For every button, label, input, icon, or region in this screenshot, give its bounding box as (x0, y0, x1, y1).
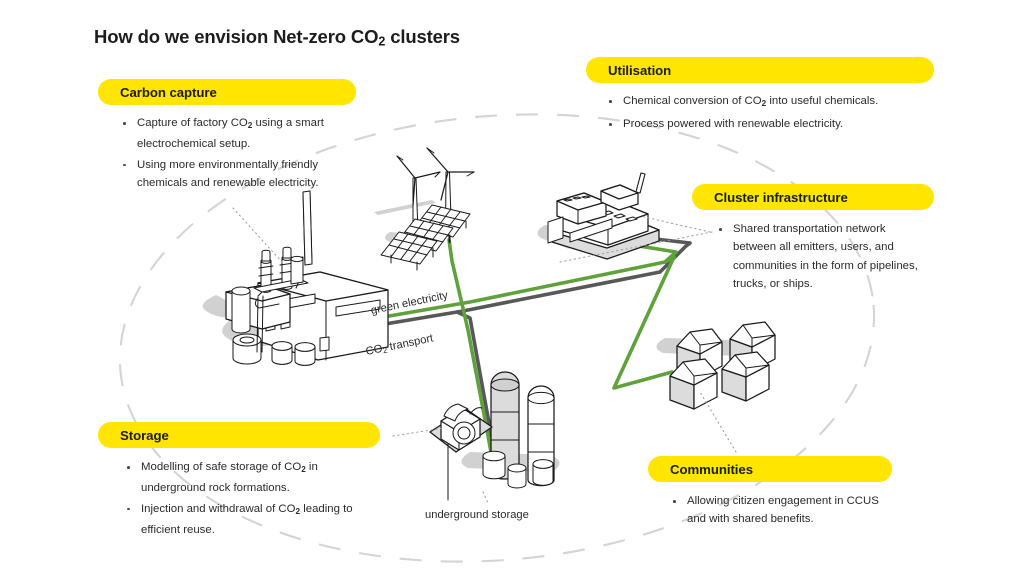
page-title: How do we envision Net-zero CO2 clusters (94, 26, 460, 48)
callout-bullets-storage: Modelling of safe storage of CO2 in unde… (98, 458, 370, 539)
bullet-item: Capture of factory CO2 using a smart ele… (120, 114, 346, 154)
callout-heading-storage: Storage (98, 422, 380, 448)
callout-storage: Storage Modelling of safe storage of CO2… (98, 422, 380, 539)
callout-heading-utilisation: Utilisation (586, 57, 934, 83)
callout-bullets-carbon-capture: Capture of factory CO2 using a smart ele… (98, 114, 346, 192)
callout-heading-carbon-capture: Carbon capture (98, 79, 356, 105)
bullet-item: Process powered with renewable electrici… (606, 115, 930, 133)
label-underground-storage: underground storage (425, 509, 529, 521)
callout-bullets-cluster-infrastructure: Shared transportation network between al… (692, 220, 930, 294)
callout-bullets-communities: Allowing citizen engagement in CCUS and … (648, 492, 892, 529)
bullet-item: Shared transportation network between al… (716, 220, 930, 294)
pipeline-label-co2-transport: CO2 transport (365, 332, 435, 358)
callout-heading-communities: Communities (648, 456, 892, 482)
bullet-item: Injection and withdrawal of CO2 leading … (124, 500, 370, 540)
infographic-canvas: .ln { fill:none; stroke:#1a1a1a; stroke-… (0, 0, 1024, 576)
callout-communities: Communities Allowing citizen engagement … (648, 456, 892, 529)
bullet-item: Chemical conversion of CO2 into useful c… (606, 92, 930, 113)
callout-cluster-infrastructure: Cluster infrastructure Shared transporta… (692, 184, 934, 294)
callout-bullets-utilisation: Chemical conversion of CO2 into useful c… (586, 92, 930, 134)
callout-heading-cluster-infrastructure: Cluster infrastructure (692, 184, 934, 210)
pipeline-label-green-electricity: green electricity (370, 289, 449, 316)
page-title-after: clusters (385, 26, 460, 47)
callout-utilisation: Utilisation Chemical conversion of CO2 i… (586, 57, 934, 134)
bullet-item: Modelling of safe storage of CO2 in unde… (124, 458, 370, 498)
page-title-before: How do we envision Net-zero CO (94, 26, 378, 47)
bullet-item: Using more environmentally friendly chem… (120, 156, 346, 193)
bullet-item: Allowing citizen engagement in CCUS and … (670, 492, 892, 529)
callout-carbon-capture: Carbon capture Capture of factory CO2 us… (98, 79, 356, 192)
